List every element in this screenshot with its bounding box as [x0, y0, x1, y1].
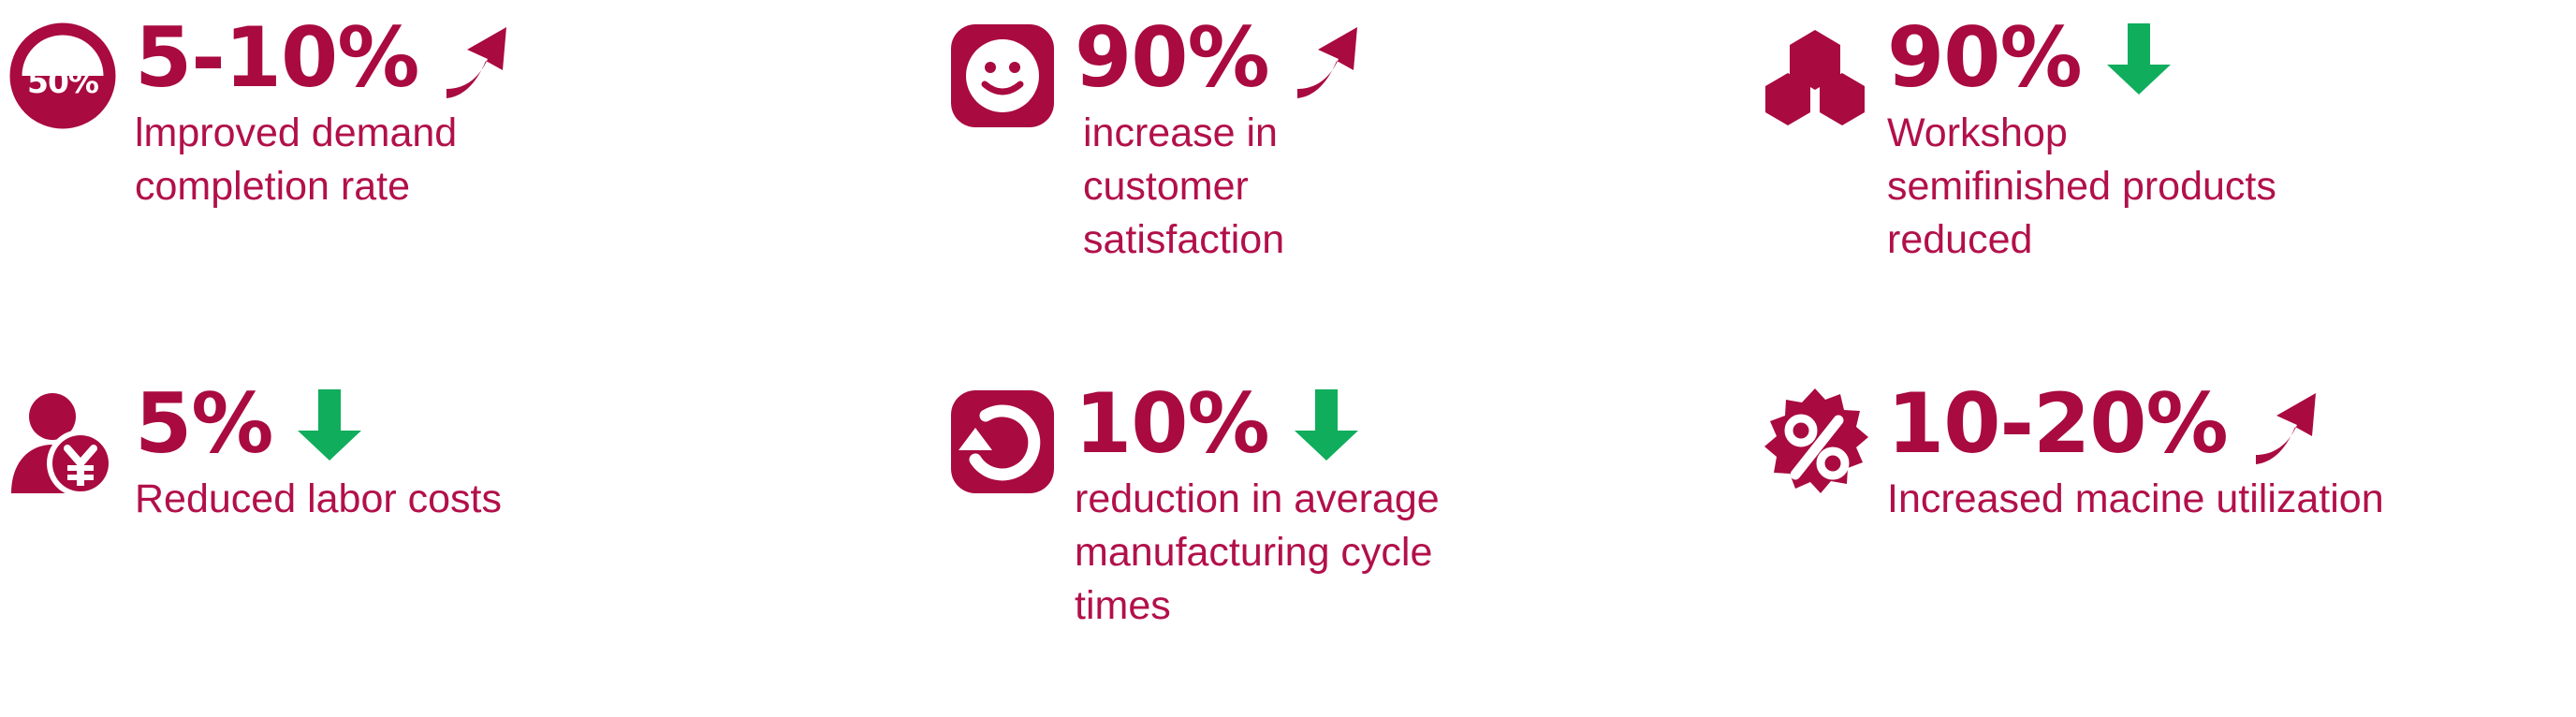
stat-headline: 90% [1887, 13, 2576, 103]
stat-headline: 90% [1075, 13, 1760, 103]
arrow-down-icon [1286, 384, 1367, 464]
arrow-down-icon [2099, 18, 2179, 98]
stat-body: 5-10% lmproved demand completion rate [135, 13, 945, 213]
stat-headline: 10-20% [1887, 379, 2576, 469]
stat-value: 90% [1075, 13, 1269, 103]
arrow-up-right-icon [2245, 384, 2325, 464]
stat-caption: reduction in average manufacturing cycle… [1075, 473, 1515, 633]
smiley-face-square-icon [947, 21, 1058, 131]
refresh-cycle-square-icon [947, 387, 1058, 497]
stat-card-labor-costs: 5% Reduced labor costs [0, 358, 945, 717]
stat-caption: lmproved demand completion rate [135, 107, 603, 213]
arrow-down-icon [289, 384, 370, 464]
stat-value: 10-20% [1887, 379, 2228, 469]
stat-value: 90% [1887, 13, 2082, 103]
stat-card-manufacturing-cycle-time: 10% reduction in average manufacturing c… [945, 358, 1760, 717]
stat-value: 10% [1075, 379, 1269, 469]
stat-body: 5% Reduced labor costs [135, 379, 945, 526]
stat-body: 10-20% Increased macine utilization [1887, 379, 2576, 526]
stat-caption: Workshop semifinished products reduced [1887, 107, 2280, 267]
stat-card-machine-utilization: 10-20% Increased macine utilization [1760, 358, 2576, 717]
stat-body: 90% increase in customer satisfaction [1075, 13, 1760, 267]
gauge-half-pie-icon: 50% [7, 21, 118, 131]
stat-value: 5% [135, 379, 272, 469]
stat-headline: 10% [1075, 379, 1760, 469]
arrow-up-right-icon [1286, 18, 1367, 98]
stat-card-demand-completion-rate: 50% 5-10% lmproved demand completion rat… [0, 0, 945, 358]
stat-caption: increase in customer satisfaction [1075, 107, 1449, 267]
arrow-up-right-icon [435, 18, 516, 98]
stat-value: 5-10% [135, 13, 418, 103]
stat-caption: Increased macine utilization [1887, 473, 2542, 526]
person-with-yen-coin-icon [7, 387, 118, 497]
stat-headline: 5-10% [135, 13, 945, 103]
stat-caption: Reduced labor costs [135, 473, 659, 526]
stat-body: 90% Workshop semifinished products reduc… [1887, 13, 2576, 267]
metrics-infographic: 50% 5-10% lmproved demand completion rat… [0, 0, 2576, 717]
percent-starburst-badge-icon [1760, 387, 1870, 497]
three-hexagons-icon [1760, 21, 1870, 131]
stat-body: 10% reduction in average manufacturing c… [1075, 379, 1760, 633]
stat-card-customer-satisfaction: 90% increase in customer satisfaction [945, 0, 1760, 358]
stat-card-workshop-semifinished-products: 90% Workshop semifinished products reduc… [1760, 0, 2576, 358]
stat-card-grid: 50% 5-10% lmproved demand completion rat… [0, 0, 2576, 717]
stat-headline: 5% [135, 379, 945, 469]
